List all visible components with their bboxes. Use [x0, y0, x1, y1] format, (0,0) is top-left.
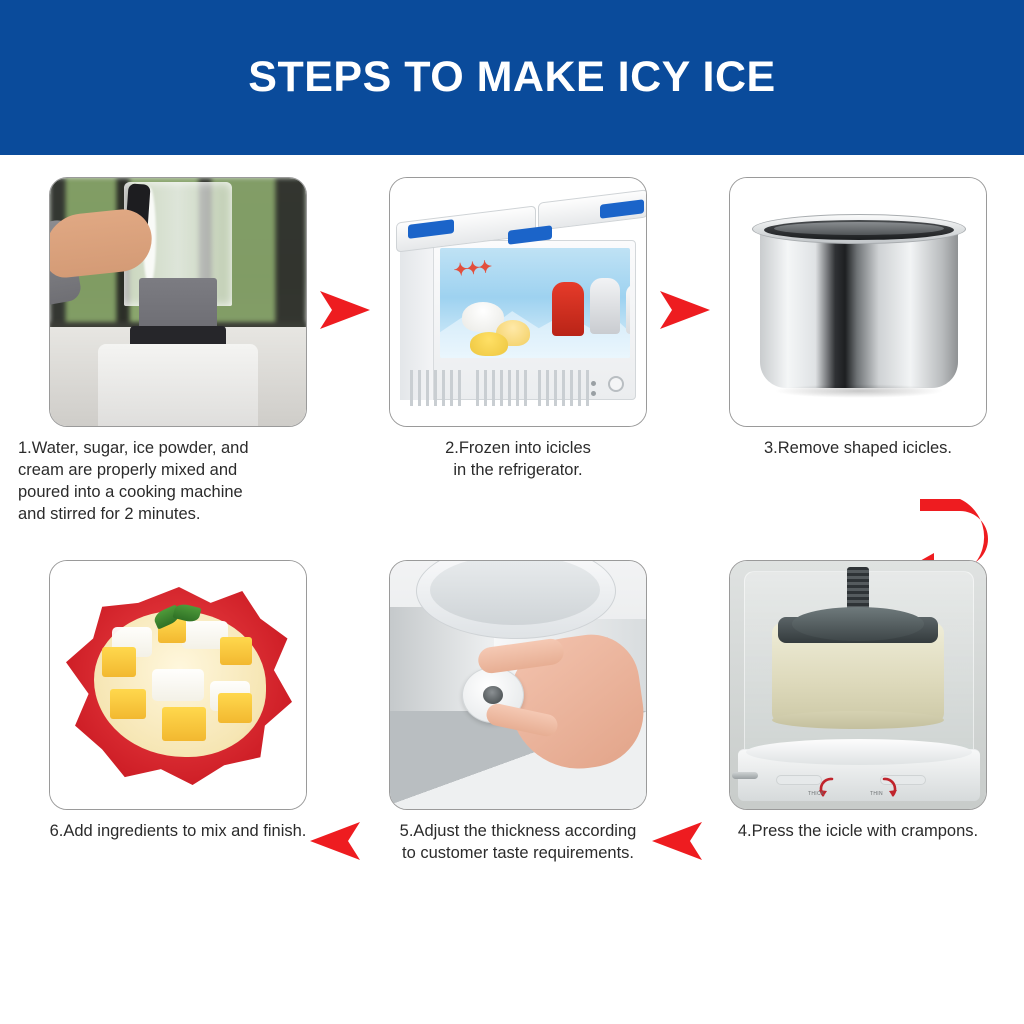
mint-garnish	[154, 605, 200, 631]
knob-center-hole	[483, 686, 503, 704]
step-4-photo-card: THICK THIN	[729, 560, 987, 810]
blender-mixing-photo: MELATE	[50, 178, 306, 426]
step-5-photo-card: ❰ ❱	[389, 560, 647, 810]
blended-mixture	[139, 278, 217, 330]
step-1-caption: 1.Water, sugar, ice powder, and cream ar…	[8, 438, 348, 526]
infographic-page: STEPS TO MAKE ICY ICE	[0, 0, 1024, 1024]
dial-label-thick: THICK	[808, 791, 825, 797]
step-5: ❰ ❱ 5.Adjust the thickness according to …	[348, 560, 688, 865]
steps-row-top: MELATE 1.Water, sugar, ice powder, and c…	[0, 177, 1024, 597]
thickness-knob-photo: ❰ ❱	[390, 561, 646, 809]
mango-cube	[162, 707, 206, 741]
freezer-vent	[476, 370, 528, 406]
chest-freezer-photo: ✦✦✦	[390, 178, 646, 426]
indicator-light	[591, 381, 596, 386]
freezer-vent	[410, 370, 462, 406]
thin-rotation-arrow-icon	[876, 775, 902, 801]
red-machine-graphic	[552, 282, 584, 336]
steps-row-bottom: 6.Add ingredients to mix and finish.	[0, 560, 1024, 980]
step-3-photo-card	[729, 177, 987, 427]
crampons-press-photo: THICK THIN	[730, 561, 986, 809]
crampon-head	[792, 607, 924, 641]
step-2-caption: 2.Frozen into icicles in the refrigerato…	[348, 438, 688, 482]
steps-grid: MELATE 1.Water, sugar, ice powder, and c…	[0, 155, 1024, 1024]
blender-body: MELATE	[98, 344, 258, 426]
mango-cube	[220, 637, 252, 665]
mango-cube	[110, 689, 146, 719]
base-bolt	[732, 772, 758, 779]
step-2-photo-card: ✦✦✦	[389, 177, 647, 427]
step-3-caption: 3.Remove shaped icicles.	[688, 438, 1024, 460]
mint-leaf	[172, 602, 201, 624]
freezer-graphic-panel: ✦✦✦	[440, 248, 630, 358]
step-6-caption: 6.Add ingredients to mix and finish.	[8, 821, 348, 843]
silver-machine-graphic	[590, 278, 620, 334]
pot-shadow	[774, 384, 944, 398]
mango-cube	[102, 647, 136, 677]
step-4: THICK THIN 4.Press the icicle with cramp…	[688, 560, 1024, 843]
step-1-photo-card: MELATE	[49, 177, 307, 427]
step-6: 6.Add ingredients to mix and finish.	[8, 560, 348, 843]
stainless-pot-photo	[730, 178, 986, 426]
indicator-light	[591, 391, 596, 396]
step-6-photo-card	[49, 560, 307, 810]
pot-body	[760, 226, 958, 388]
thick-rotation-arrow-icon	[814, 775, 840, 801]
page-title: STEPS TO MAKE ICY ICE	[248, 56, 775, 99]
step-1: MELATE 1.Water, sugar, ice powder, and c…	[8, 177, 348, 526]
step-5-caption: 5.Adjust the thickness according to cust…	[348, 821, 688, 865]
base-ring	[746, 739, 972, 765]
white-machine-graphic	[626, 284, 630, 334]
step-3: 3.Remove shaped icicles.	[688, 177, 1024, 460]
decorative-script-text: ✦✦✦	[453, 251, 552, 291]
thermostat-knob	[608, 376, 624, 392]
freezer-vent	[538, 370, 590, 406]
step-4-caption: 4.Press the icicle with crampons.	[688, 821, 1024, 843]
pot-interior-highlight	[774, 222, 944, 235]
mango-cube	[218, 693, 252, 723]
shaved-ice-piece	[152, 669, 204, 701]
header-banner: STEPS TO MAKE ICY ICE	[0, 0, 1024, 155]
ice-scoop-graphic	[470, 332, 508, 356]
finished-dessert-photo	[50, 561, 306, 809]
step-2: ✦✦✦	[348, 177, 688, 482]
